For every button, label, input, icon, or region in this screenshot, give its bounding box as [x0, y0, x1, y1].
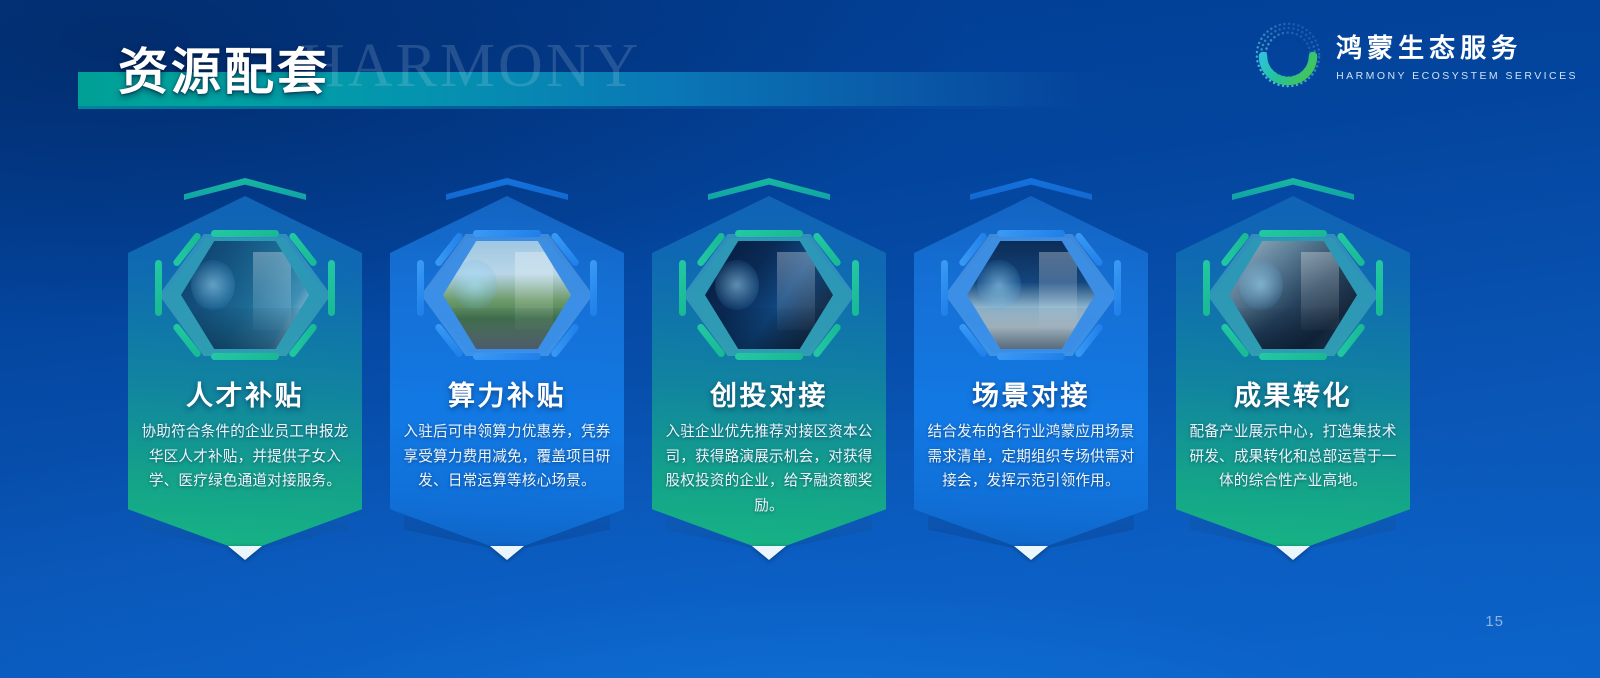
- frame-bracket-tr: [852, 260, 859, 316]
- slide-resource-support: HARMONY 资源配套: [0, 0, 1600, 678]
- frame-bracket-top: [1259, 230, 1327, 237]
- brand-name-cn: 鸿蒙生态服务: [1336, 28, 1578, 65]
- card-description: 结合发布的各行业鸿蒙应用场景需求清单，定期组织专场供需对接会，发挥示范引领作用。: [924, 420, 1138, 494]
- frame-bracket-top: [997, 230, 1065, 237]
- frame-bracket-bottom: [211, 353, 279, 360]
- frame-bracket-tl: [155, 260, 162, 316]
- frame-bracket-bottom: [735, 353, 803, 360]
- page-number: 15: [1485, 613, 1504, 630]
- card-description: 配备产业展示中心，打造集技术研发、成果转化和总部运营于一体的综合性产业高地。: [1186, 420, 1400, 494]
- page-title: 资源配套: [118, 32, 330, 104]
- triangle-down-icon[interactable]: [490, 546, 524, 560]
- frame-bracket-tl: [679, 260, 686, 316]
- card-body: 算力补贴 入驻后可申领算力优惠券，凭券享受算力费用减免，覆盖项目研发、日常运算等…: [390, 196, 624, 552]
- frame-bracket-top: [735, 230, 803, 237]
- brand-logo: 鸿蒙生态服务 HARMONY ECOSYSTEM SERVICES: [1254, 22, 1578, 88]
- frame-bracket-bottom: [473, 353, 541, 360]
- card-image-frame: [945, 234, 1117, 356]
- card-title: 创投对接: [652, 374, 886, 413]
- card-5[interactable]: 成果转化 配备产业展示中心，打造集技术研发、成果转化和总部运营于一体的综合性产业…: [1176, 178, 1410, 570]
- card-body: 成果转化 配备产业展示中心，打造集技术研发、成果转化和总部运营于一体的综合性产业…: [1176, 196, 1410, 552]
- frame-bracket-tr: [590, 260, 597, 316]
- frame-bracket-tl: [1203, 260, 1210, 316]
- card-image-frame: [159, 234, 331, 356]
- card-body: 场景对接 结合发布的各行业鸿蒙应用场景需求清单，定期组织专场供需对接会，发挥示范…: [914, 196, 1148, 552]
- card-image-frame: [421, 234, 593, 356]
- card-list: 人才补贴 协助符合条件的企业员工申报龙华区人才补贴，并提供子女入学、医疗绿色通道…: [128, 178, 1466, 570]
- harmony-ring-logo-icon: [1254, 22, 1322, 88]
- card-description: 入驻企业优先推荐对接区资本公司，获得路演展示机会，对获得股权投资的企业，给予融资…: [662, 420, 876, 518]
- triangle-down-icon[interactable]: [228, 546, 262, 560]
- card-4[interactable]: 场景对接 结合发布的各行业鸿蒙应用场景需求清单，定期组织专场供需对接会，发挥示范…: [914, 178, 1148, 570]
- frame-bracket-tr: [328, 260, 335, 316]
- card-3[interactable]: 创投对接 入驻企业优先推荐对接区资本公司，获得路演展示机会，对获得股权投资的企业…: [652, 178, 886, 570]
- card-image-frame: [1207, 234, 1379, 356]
- card-body: 创投对接 入驻企业优先推荐对接区资本公司，获得路演展示机会，对获得股权投资的企业…: [652, 196, 886, 552]
- card-1[interactable]: 人才补贴 协助符合条件的企业员工申报龙华区人才补贴，并提供子女入学、医疗绿色通道…: [128, 178, 362, 570]
- frame-bracket-top: [211, 230, 279, 237]
- frame-bracket-tr: [1114, 260, 1121, 316]
- frame-bracket-bottom: [997, 353, 1065, 360]
- card-title: 场景对接: [914, 374, 1148, 413]
- card-title: 人才补贴: [128, 374, 362, 413]
- triangle-down-icon[interactable]: [752, 546, 786, 560]
- header-watermark: HARMONY: [300, 31, 641, 102]
- triangle-down-icon[interactable]: [1014, 546, 1048, 560]
- frame-bracket-tl: [941, 260, 948, 316]
- card-description: 入驻后可申领算力优惠券，凭券享受算力费用减免，覆盖项目研发、日常运算等核心场景。: [400, 420, 614, 494]
- frame-bracket-top: [473, 230, 541, 237]
- frame-bracket-tl: [417, 260, 424, 316]
- card-description: 协助符合条件的企业员工申报龙华区人才补贴，并提供子女入学、医疗绿色通道对接服务。: [138, 420, 352, 494]
- card-image-frame: [683, 234, 855, 356]
- card-body: 人才补贴 协助符合条件的企业员工申报龙华区人才补贴，并提供子女入学、医疗绿色通道…: [128, 196, 362, 552]
- card-title: 成果转化: [1176, 374, 1410, 413]
- card-title: 算力补贴: [390, 374, 624, 413]
- frame-bracket-tr: [1376, 260, 1383, 316]
- card-2[interactable]: 算力补贴 入驻后可申领算力优惠券，凭券享受算力费用减免，覆盖项目研发、日常运算等…: [390, 178, 624, 570]
- frame-bracket-bottom: [1259, 353, 1327, 360]
- brand-name-en: HARMONY ECOSYSTEM SERVICES: [1336, 70, 1578, 82]
- triangle-down-icon[interactable]: [1276, 546, 1310, 560]
